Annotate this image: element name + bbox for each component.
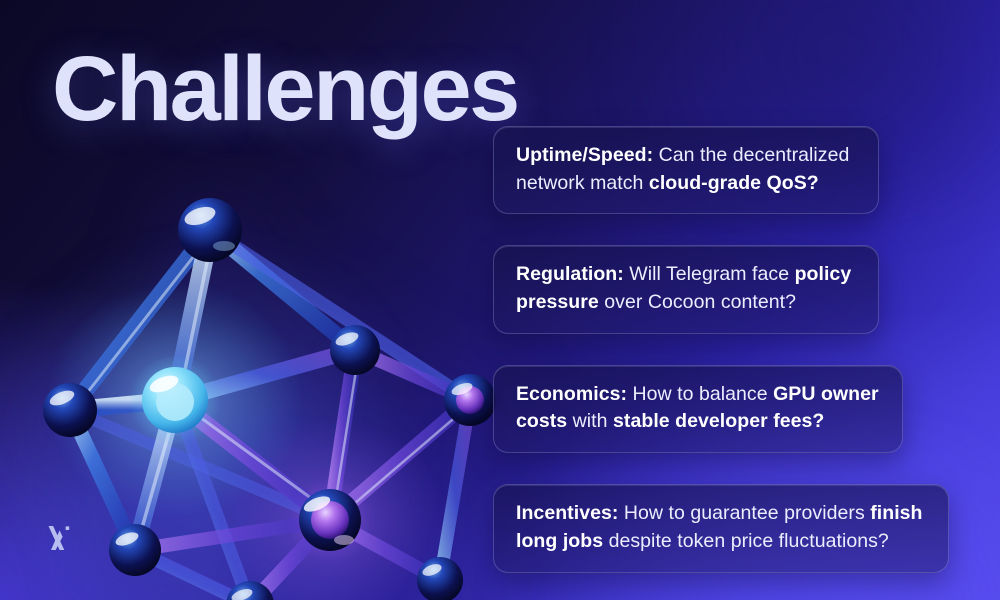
challenge-card-label: Incentives: [516, 502, 618, 524]
challenge-cards-list: Uptime/Speed: Can the decentralized netw… [493, 126, 963, 573]
challenge-card-emphasis: cloud-grade QoS? [649, 172, 819, 194]
challenge-card-text: Uptime/Speed: Can the decentralized netw… [516, 142, 856, 197]
lambda-logo-icon [38, 518, 78, 558]
node-center-cyan [129, 354, 221, 446]
node-bottom-left [109, 524, 161, 576]
challenge-card-body-before: How to guarantee providers [618, 502, 870, 524]
challenge-card-body-after: over Cocoon content? [599, 291, 796, 313]
challenge-card-body-before: How to balance [627, 383, 773, 405]
challenge-card-economics[interactable]: Economics: How to balance GPU owner cost… [493, 365, 903, 453]
challenge-card-regulation[interactable]: Regulation: Will Telegram face policy pr… [493, 245, 879, 333]
challenge-card-body-after: despite token price fluctuations? [603, 530, 889, 552]
challenge-card-body-before: Will Telegram face [624, 263, 795, 285]
challenge-card-label: Economics: [516, 383, 627, 405]
challenge-card-incentives[interactable]: Incentives: How to guarantee providers f… [493, 484, 949, 572]
challenge-card-label: Uptime/Speed: [516, 144, 653, 166]
challenge-card-body-after: with [567, 410, 613, 432]
challenge-card-label: Regulation: [516, 263, 624, 285]
node-center-violet [286, 476, 374, 564]
node-top [178, 198, 242, 262]
node-left [43, 383, 97, 437]
slide-canvas: Challenges Uptime/Speed: Can the decentr… [0, 0, 1000, 600]
challenge-card-emphasis-2: stable developer fees? [613, 410, 824, 432]
network-polyhedron-3d-graphic [0, 150, 540, 600]
node-right-upper [330, 325, 380, 375]
challenge-card-text: Incentives: How to guarantee providers f… [516, 500, 926, 555]
challenge-card-text: Regulation: Will Telegram face policy pr… [516, 261, 856, 316]
challenge-card-uptime-speed[interactable]: Uptime/Speed: Can the decentralized netw… [493, 126, 879, 214]
page-title: Challenges [52, 43, 518, 135]
node-right-violet [444, 374, 496, 426]
challenge-card-text: Economics: How to balance GPU owner cost… [516, 381, 880, 436]
